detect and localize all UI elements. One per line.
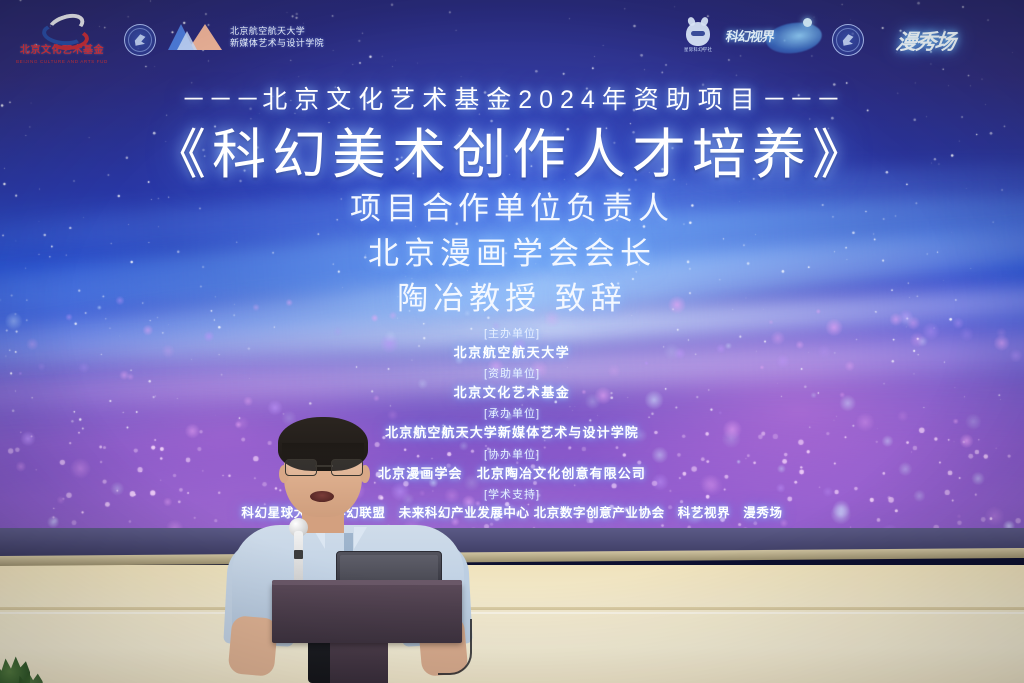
glasses-icon bbox=[284, 459, 364, 474]
credit-label-2: [承办单位] bbox=[0, 406, 1024, 423]
subtitle-speaker: 陶冶教授 致辞 bbox=[0, 273, 1024, 318]
mascot-caption: 星际科幻学社 bbox=[684, 47, 712, 53]
credit-label-4: [学术支持] bbox=[0, 487, 1024, 504]
credit-value-1: 北京文化艺术基金 bbox=[0, 383, 1024, 403]
potted-plant-icon bbox=[0, 651, 30, 683]
subtitle-role: 项目合作单位负责人 bbox=[0, 183, 1024, 228]
wall-molding bbox=[0, 607, 1024, 610]
speaker-mouth bbox=[310, 491, 334, 502]
logo-beijing-culture-and-arts-fund: 北京文化艺术基金 BEIJING CULTURE AND ARTS FUD bbox=[16, 14, 108, 64]
microphone-switch bbox=[294, 550, 303, 559]
podium-base bbox=[330, 637, 388, 683]
main-title: 《科幻美术创作人才培养》 bbox=[0, 110, 1024, 189]
credit-value-0: 北京航空航天大学 bbox=[0, 343, 1024, 363]
logo-round-seal bbox=[832, 24, 864, 56]
logo-new-media-art-design-school: 北京航空航天大学 新媒体艺术与设计学院 bbox=[168, 24, 324, 50]
shirt-collar-right bbox=[354, 527, 367, 549]
wall-molding-highlight bbox=[0, 612, 1024, 614]
credit-value-4: 科幻星球大赛 科幻联盟 未来科幻产业发展中心 北京数字创意产业协会 科艺视界 漫… bbox=[0, 504, 1024, 523]
logo-mascot: 星际科幻学社 bbox=[684, 22, 712, 53]
podium bbox=[272, 583, 462, 643]
manxiuchang-logo-text: 漫秀场 bbox=[894, 26, 956, 56]
screenshot-root: 北京文化艺术基金 BEIJING CULTURE AND ARTS FUD 北京… bbox=[0, 0, 1024, 683]
sponsor-logo-bar: 北京文化艺术基金 BEIJING CULTURE AND ARTS FUD 北京… bbox=[0, 0, 1024, 74]
school-logo-text: 北京航空航天大学 新媒体艺术与设计学院 bbox=[230, 25, 324, 49]
logo-manxiuchang: 漫秀场 bbox=[896, 26, 955, 56]
credit-value-2: 北京航空航天大学新媒体艺术与设计学院 bbox=[0, 423, 1024, 443]
school-line-2: 新媒体艺术与设计学院 bbox=[230, 37, 324, 49]
speaker-arm-left bbox=[228, 615, 279, 677]
credit-label-0: [主办单位] bbox=[0, 326, 1024, 343]
logo-buaa-seal bbox=[124, 24, 156, 56]
swoosh-logo-text: 科幻视界 bbox=[724, 26, 775, 45]
subtitle-affiliation: 北京漫画学会会长 bbox=[0, 228, 1024, 273]
power-cable bbox=[438, 619, 472, 675]
mascot-icon bbox=[686, 22, 710, 46]
credits-block: [主办单位] 北京航空航天大学 [资助单位] 北京文化艺术基金 [承办单位] 北… bbox=[0, 326, 1024, 523]
swoosh-icon: 科幻视界 bbox=[726, 20, 822, 56]
ribbon-swirl-icon bbox=[39, 14, 85, 44]
school-line-1: 北京航空航天大学 bbox=[230, 25, 324, 37]
university-seal-icon bbox=[124, 24, 156, 56]
association-seal-icon bbox=[832, 24, 864, 56]
led-presentation-screen: 北京文化艺术基金 BEIJING CULTURE AND ARTS FUD 北京… bbox=[0, 0, 1024, 556]
credit-label-3: [协办单位] bbox=[0, 447, 1024, 464]
credit-label-1: [资助单位] bbox=[0, 366, 1024, 383]
fund-logo-en: BEIJING CULTURE AND ARTS FUD bbox=[16, 59, 108, 64]
credit-value-3: 北京漫画学会 北京陶冶文化创意有限公司 bbox=[0, 464, 1024, 484]
logo-swoosh: 科幻视界 bbox=[726, 20, 822, 56]
room-wall bbox=[0, 565, 1024, 683]
mountain-m-icon bbox=[168, 24, 222, 50]
microphone-icon bbox=[294, 531, 303, 587]
